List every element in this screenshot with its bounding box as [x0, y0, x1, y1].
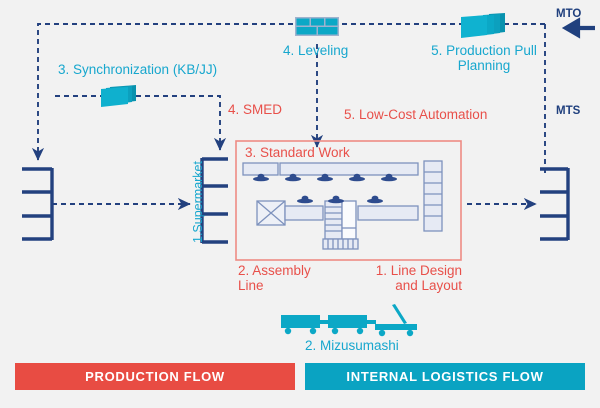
- worker-top-view-icon: [328, 196, 344, 204]
- legend-internal-logistics-flow[interactable]: INTERNAL LOGISTICS FLOW: [305, 363, 585, 390]
- worktable-upper-1: [243, 163, 278, 175]
- label-line-design: 1. Line Design and Layout: [372, 263, 462, 293]
- legend-internal-logistics-flow-label: INTERNAL LOGISTICS FLOW: [346, 369, 543, 384]
- label-leveling: 4. Leveling: [283, 43, 348, 58]
- label-standard-work: 3. Standard Work: [245, 145, 350, 160]
- worker-top-view-icon: [297, 196, 313, 204]
- card-stack-icon-pull-planning: [461, 13, 505, 38]
- flow-synchronization: [55, 96, 220, 150]
- label-assembly-line: 2. Assembly Line: [238, 263, 311, 293]
- label-production-pull-planning: 5. Production Pull Planning: [424, 43, 544, 73]
- label-low-cost-automation: 5. Low-Cost Automation: [344, 107, 487, 122]
- shelf-rack-icon-center: [202, 158, 228, 243]
- legend-production-flow-label: PRODUCTION FLOW: [85, 369, 225, 384]
- shelf-rack-icon-right: [540, 168, 568, 240]
- label-mto: MTO: [556, 8, 581, 21]
- label-mts: MTS: [556, 105, 580, 118]
- card-stack-icon-synchronization: [101, 85, 136, 107]
- worktable-lower-2: [358, 206, 418, 220]
- shelf-rack-icon-left: [22, 168, 52, 240]
- workers-lower-line: [297, 196, 383, 204]
- diagram-canvas: 3. Synchronization (KB/JJ) 4. Leveling 5…: [0, 0, 600, 408]
- worker-top-view-icon: [367, 196, 383, 204]
- worktable-lower-1: [285, 206, 323, 220]
- label-smed: 4. SMED: [228, 102, 282, 117]
- legend-production-flow[interactable]: PRODUCTION FLOW: [15, 363, 295, 390]
- heijunka-box-icon: [295, 17, 339, 36]
- label-supermarket: 1.Supermarket: [191, 161, 205, 243]
- worktable-upper-2: [280, 163, 418, 175]
- factory-layout: [243, 161, 442, 249]
- tow-train-icon: [281, 304, 417, 336]
- machine-rack-right: [342, 201, 356, 239]
- arrow-left-icon: [566, 21, 595, 35]
- label-mizusumashi: 2. Mizusumashi: [305, 338, 399, 353]
- label-synchronization: 3. Synchronization (KB/JJ): [58, 62, 217, 77]
